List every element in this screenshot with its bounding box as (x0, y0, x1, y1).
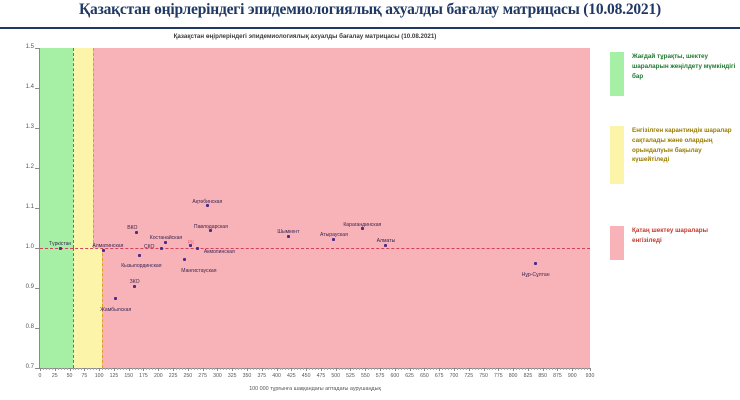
x-axis-minor-tick (105, 368, 106, 370)
x-axis-tick (395, 368, 396, 371)
x-axis-tick (277, 368, 278, 371)
x-axis-minor-tick (300, 368, 301, 370)
x-axis-minor-tick (182, 368, 183, 370)
x-axis-minor-tick (214, 368, 215, 370)
x-axis-minor-tick (356, 368, 357, 370)
x-axis-minor-tick (43, 368, 44, 370)
y-axis-tick-label: 1.2 (14, 164, 34, 170)
x-axis-minor-tick (368, 368, 369, 370)
y-axis-tick-label: 1.1 (14, 204, 34, 210)
x-axis-minor-tick (256, 368, 257, 370)
x-axis-minor-tick (117, 368, 118, 370)
x-axis-minor-tick (537, 368, 538, 370)
x-axis-tick (590, 368, 591, 371)
x-axis-minor-tick (235, 368, 236, 370)
x-axis-minor-tick (241, 368, 242, 370)
x-axis-minor-tick (371, 368, 372, 370)
data-point-label: СКО (144, 244, 155, 250)
x-axis-tick (262, 368, 263, 371)
x-axis-minor-tick (102, 368, 103, 370)
y-axis-tick-label: 1.5 (14, 44, 34, 50)
x-axis-tick (291, 368, 292, 371)
data-point-label: ВКО (127, 225, 137, 231)
x-axis-minor-tick (81, 368, 82, 370)
x-axis-tick (572, 368, 573, 371)
x-axis-minor-tick (206, 368, 207, 370)
x-axis-minor-tick (581, 368, 582, 370)
data-point-label: Павлодарская (194, 224, 228, 230)
x-axis-tick (203, 368, 204, 371)
x-axis-minor-tick (73, 368, 74, 370)
data-point-label: Атырауская (320, 232, 348, 238)
x-axis-minor-tick (238, 368, 239, 370)
x-axis-minor-tick (413, 368, 414, 370)
x-axis-minor-tick (152, 368, 153, 370)
x-axis-minor-tick (401, 368, 402, 370)
y-axis-tick-label: 1.4 (14, 84, 34, 90)
x-axis-tick (40, 368, 41, 371)
x-axis-minor-tick (472, 368, 473, 370)
x-axis-title: 100 000 тұрғынға шаққандағы аптадағы аур… (40, 386, 590, 392)
data-point-label: Кызылординская (121, 263, 161, 269)
legend-label: Жағдай тұрақты, шектеу шараларын жеңілде… (632, 52, 738, 81)
chart-subtitle: Қазақстан өңірлеріндегі эпидемиологиялық… (40, 33, 570, 40)
x-axis-minor-tick (330, 368, 331, 370)
x-axis-tick (217, 368, 218, 371)
y-axis-line (39, 48, 40, 368)
x-axis-minor-tick (194, 368, 195, 370)
x-axis-tick (410, 368, 411, 371)
x-axis-minor-tick (546, 368, 547, 370)
x-axis-minor-tick (58, 368, 59, 370)
x-axis-minor-tick (569, 368, 570, 370)
data-point-label: ЗКО (130, 279, 140, 285)
x-axis-minor-tick (342, 368, 343, 370)
data-point-label: Нұр-Сұлтан (522, 272, 550, 278)
x-axis-tick (306, 368, 307, 371)
data-point (196, 247, 199, 250)
x-axis-minor-tick (312, 368, 313, 370)
x-axis-minor-tick (460, 368, 461, 370)
x-axis-tick (336, 368, 337, 371)
x-axis-minor-tick (155, 368, 156, 370)
x-axis-minor-tick (294, 368, 295, 370)
x-axis-minor-tick (259, 368, 260, 370)
x-axis-minor-tick (46, 368, 47, 370)
x-axis-minor-tick (179, 368, 180, 370)
x-axis-minor-tick (78, 368, 79, 370)
x-axis-minor-tick (555, 368, 556, 370)
x-axis-minor-tick (407, 368, 408, 370)
x-axis-tick (484, 368, 485, 371)
x-axis-minor-tick (268, 368, 269, 370)
data-point (114, 297, 117, 300)
x-axis-minor-tick (389, 368, 390, 370)
x-axis-minor-tick (274, 368, 275, 370)
x-axis-minor-tick (386, 368, 387, 370)
y-axis-tick (35, 168, 39, 169)
x-axis-minor-tick (560, 368, 561, 370)
x-axis-minor-tick (339, 368, 340, 370)
x-axis-minor-tick (578, 368, 579, 370)
x-axis-minor-tick (587, 368, 588, 370)
zone-divider (93, 48, 94, 248)
data-point (534, 262, 537, 265)
x-axis-minor-tick (52, 368, 53, 370)
page-title: Қазақстан өңірлеріндегі эпидемиологиялық… (0, 1, 740, 19)
x-axis-minor-tick (466, 368, 467, 370)
x-axis-tick (365, 368, 366, 371)
chart-legend: Жағдай тұрақты, шектеу шараларын жеңілде… (604, 48, 740, 278)
x-axis-minor-tick (504, 368, 505, 370)
x-axis-minor-tick (427, 368, 428, 370)
y-axis-tick-label: 1.3 (14, 124, 34, 130)
x-axis-minor-tick (525, 368, 526, 370)
data-point (138, 254, 141, 257)
x-axis-minor-tick (253, 368, 254, 370)
x-axis-tick (439, 368, 440, 371)
x-axis-minor-tick (418, 368, 419, 370)
y-axis-tick (35, 328, 39, 329)
data-point-label: РК (188, 240, 194, 246)
x-axis-tick (247, 368, 248, 371)
y-axis-tick-label: 1.0 (14, 244, 34, 250)
header-banner: Қазақстан өңірлеріндегі эпидемиологиялық… (0, 0, 740, 29)
data-point-label: Алматы (377, 238, 396, 244)
x-axis-minor-tick (575, 368, 576, 370)
x-axis-tick (469, 368, 470, 371)
x-axis-tick (498, 368, 499, 371)
y-axis-tick (35, 208, 39, 209)
x-axis-minor-tick (164, 368, 165, 370)
x-axis-minor-tick (282, 368, 283, 370)
x-axis-minor-tick (333, 368, 334, 370)
legend-swatch (610, 52, 624, 96)
x-axis-minor-tick (495, 368, 496, 370)
x-axis-tick (55, 368, 56, 371)
x-axis-minor-tick (540, 368, 541, 370)
x-axis-minor-tick (280, 368, 281, 370)
x-axis-minor-tick (61, 368, 62, 370)
x-axis-minor-tick (584, 368, 585, 370)
x-axis-minor-tick (87, 368, 88, 370)
y-axis-tick-label: 0.9 (14, 284, 34, 290)
screenshot-root: Қазақстан өңірлеріндегі эпидемиологиялық… (0, 0, 740, 400)
x-axis-minor-tick (516, 368, 517, 370)
x-axis-minor-tick (229, 368, 230, 370)
x-axis-minor-tick (191, 368, 192, 370)
x-axis-minor-tick (377, 368, 378, 370)
x-axis-minor-tick (111, 368, 112, 370)
x-axis-minor-tick (120, 368, 121, 370)
x-axis-minor-tick (318, 368, 319, 370)
y-axis-tick-label: 0.8 (14, 324, 34, 330)
x-axis-minor-tick (132, 368, 133, 370)
x-axis-minor-tick (288, 368, 289, 370)
x-axis-minor-tick (167, 368, 168, 370)
x-axis-minor-tick (309, 368, 310, 370)
x-axis-minor-tick (442, 368, 443, 370)
zone-band (40, 48, 73, 248)
x-axis-minor-tick (209, 368, 210, 370)
x-axis-minor-tick (96, 368, 97, 370)
x-axis-minor-tick (566, 368, 567, 370)
x-axis-minor-tick (348, 368, 349, 370)
x-axis-minor-tick (478, 368, 479, 370)
x-axis-minor-tick (244, 368, 245, 370)
x-axis-tick (188, 368, 189, 371)
x-axis-minor-tick (519, 368, 520, 370)
x-axis-tick (143, 368, 144, 371)
data-point (160, 247, 163, 250)
x-axis-minor-tick (563, 368, 564, 370)
x-axis-tick (114, 368, 115, 371)
x-axis-minor-tick (534, 368, 535, 370)
x-axis-minor-tick (398, 368, 399, 370)
zone-band (73, 248, 103, 368)
data-point-label: Карагандинская (343, 222, 381, 228)
x-axis-minor-tick (492, 368, 493, 370)
x-axis-minor-tick (501, 368, 502, 370)
x-axis-minor-tick (315, 368, 316, 370)
x-axis-minor-tick (75, 368, 76, 370)
data-point (183, 258, 186, 261)
x-axis-minor-tick (327, 368, 328, 370)
x-axis-minor-tick (552, 368, 553, 370)
y-axis-tick (35, 48, 39, 49)
x-axis-tick (321, 368, 322, 371)
data-point-label: Ақтөбинская (192, 199, 222, 205)
x-axis-tick (158, 368, 159, 371)
x-axis-minor-tick (445, 368, 446, 370)
x-axis-minor-tick (392, 368, 393, 370)
data-point-label: Мангистауская (181, 268, 216, 274)
x-axis-minor-tick (223, 368, 224, 370)
x-axis-minor-tick (126, 368, 127, 370)
x-axis-minor-tick (149, 368, 150, 370)
x-axis-minor-tick (549, 368, 550, 370)
x-axis-tick (173, 368, 174, 371)
x-axis-tick (99, 368, 100, 371)
x-axis-tick (129, 368, 130, 371)
x-axis-minor-tick (138, 368, 139, 370)
y-axis-tick-label: 0.7 (14, 364, 34, 370)
x-axis-minor-tick (507, 368, 508, 370)
x-axis-minor-tick (93, 368, 94, 370)
x-axis-minor-tick (421, 368, 422, 370)
x-axis-minor-tick (457, 368, 458, 370)
legend-label: Енгізілген карантиндік шаралар сақталады… (632, 126, 738, 165)
x-axis-minor-tick (303, 368, 304, 370)
x-axis-minor-tick (487, 368, 488, 370)
x-axis-minor-tick (404, 368, 405, 370)
zone-band (40, 248, 73, 368)
x-axis-tick (380, 368, 381, 371)
zone-divider (73, 48, 74, 248)
x-axis-minor-tick (297, 368, 298, 370)
x-axis-minor-tick (510, 368, 511, 370)
x-axis-minor-tick (416, 368, 417, 370)
y-axis-tick (35, 288, 39, 289)
zone-band (73, 48, 94, 248)
x-axis-minor-tick (362, 368, 363, 370)
data-point-label: Костанайская (150, 235, 182, 241)
x-axis-minor-tick (451, 368, 452, 370)
x-axis-minor-tick (265, 368, 266, 370)
data-point-label: Жамбылская (100, 307, 131, 313)
x-axis-minor-tick (123, 368, 124, 370)
x-axis-minor-tick (353, 368, 354, 370)
x-axis-minor-tick (324, 368, 325, 370)
x-axis-minor-tick (90, 368, 91, 370)
zone-band (40, 48, 590, 368)
x-axis-minor-tick (176, 368, 177, 370)
x-axis-minor-tick (359, 368, 360, 370)
x-axis-minor-tick (433, 368, 434, 370)
data-point-label: Түркістан (49, 241, 71, 247)
x-axis-tick-label: 930 (579, 373, 601, 379)
x-axis-minor-tick (108, 368, 109, 370)
x-axis-tick (543, 368, 544, 371)
x-axis-minor-tick (185, 368, 186, 370)
x-axis-minor-tick (135, 368, 136, 370)
x-axis-minor-tick (250, 368, 251, 370)
x-axis-minor-tick (383, 368, 384, 370)
x-axis-tick (513, 368, 514, 371)
legend-swatch (610, 226, 624, 260)
x-axis-minor-tick (161, 368, 162, 370)
x-axis-tick (454, 368, 455, 371)
data-point-label: Шымкент (277, 229, 299, 235)
x-axis-minor-tick (200, 368, 201, 370)
x-axis-minor-tick (271, 368, 272, 370)
zone-divider (73, 248, 74, 368)
x-axis-minor-tick (146, 368, 147, 370)
x-axis-minor-tick (226, 368, 227, 370)
y-axis-tick (35, 128, 39, 129)
x-axis-minor-tick (481, 368, 482, 370)
x-axis-tick (424, 368, 425, 371)
x-axis-tick (70, 368, 71, 371)
x-axis-minor-tick (220, 368, 221, 370)
x-axis-tick (350, 368, 351, 371)
x-axis-minor-tick (345, 368, 346, 370)
x-axis-tick (528, 368, 529, 371)
x-axis-minor-tick (374, 368, 375, 370)
x-axis-minor-tick (64, 368, 65, 370)
x-axis-minor-tick (489, 368, 490, 370)
x-axis-minor-tick (448, 368, 449, 370)
x-axis-minor-tick (170, 368, 171, 370)
data-point-label: Акмолинская (204, 249, 235, 255)
x-axis-minor-tick (197, 368, 198, 370)
chart-plot-area: ТүркістанАлматинскаяВКОКызылординскаяКос… (40, 48, 590, 368)
x-axis-minor-tick (212, 368, 213, 370)
x-axis-minor-tick (430, 368, 431, 370)
x-axis-tick (232, 368, 233, 371)
x-axis-minor-tick (285, 368, 286, 370)
x-axis-minor-tick (463, 368, 464, 370)
x-axis-minor-tick (436, 368, 437, 370)
y-axis-tick (35, 368, 39, 369)
y-axis-tick (35, 88, 39, 89)
x-axis-minor-tick (522, 368, 523, 370)
y-axis-tick (35, 248, 39, 249)
x-axis-tick (84, 368, 85, 371)
x-axis-minor-tick (475, 368, 476, 370)
x-axis-minor-tick (67, 368, 68, 370)
x-axis-tick (557, 368, 558, 371)
x-axis-minor-tick (49, 368, 50, 370)
legend-label: Қатаң шектеу шаралары енгізіледі (632, 226, 738, 246)
legend-swatch (610, 126, 624, 184)
x-axis-minor-tick (141, 368, 142, 370)
x-axis-minor-tick (531, 368, 532, 370)
data-point-label: Алматинская (92, 243, 123, 249)
